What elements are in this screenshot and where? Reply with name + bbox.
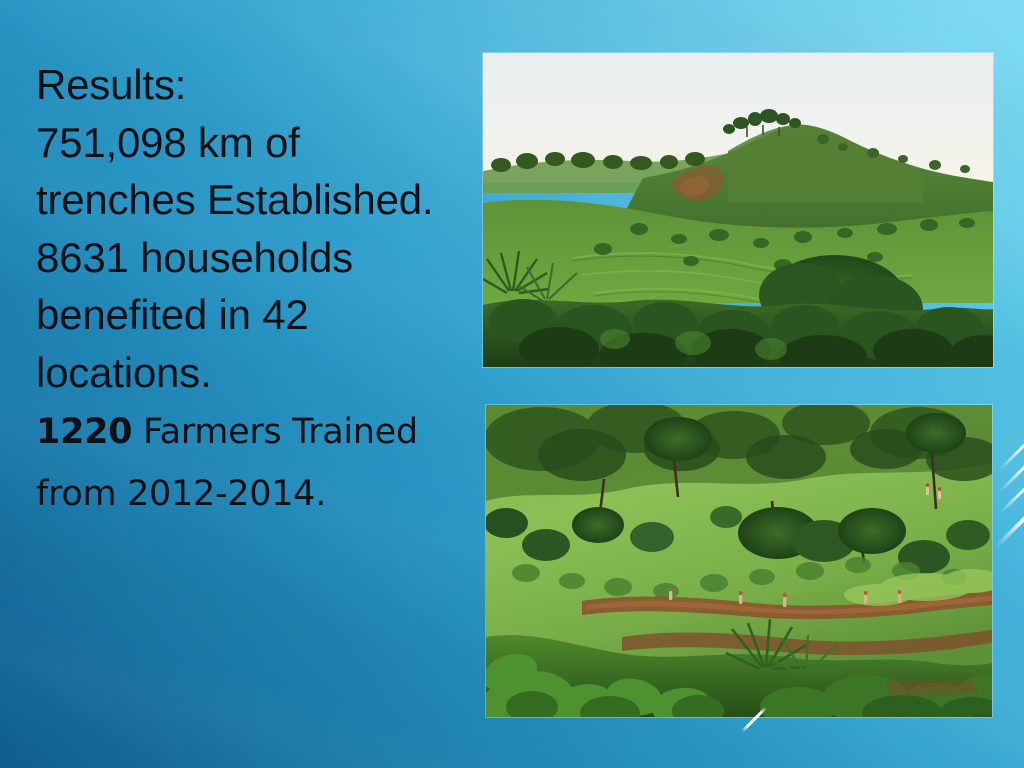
hill-landscape-photo bbox=[483, 53, 993, 367]
presentation-slide: Results: 751,098 km of trenches Establis… bbox=[0, 0, 1024, 768]
decorative-streak-1 bbox=[995, 420, 1024, 549]
date-range-line: from 2012-2014. bbox=[36, 463, 484, 525]
terraced-hillside-photo bbox=[486, 405, 992, 717]
farmers-trained-count: 1220 bbox=[36, 412, 132, 452]
locations-line: locations. bbox=[36, 344, 484, 402]
slide-body-text: Results: 751,098 km of trenches Establis… bbox=[36, 56, 484, 525]
trench-length-line: 751,098 km of bbox=[36, 114, 484, 172]
farmers-trained-label: Farmers Trained bbox=[132, 412, 418, 452]
benefited-line: benefited in 42 bbox=[36, 286, 484, 344]
farmers-trained-line: 1220 Farmers Trained bbox=[36, 401, 484, 463]
households-line: 8631 households bbox=[36, 229, 484, 287]
decorative-streak-4 bbox=[999, 369, 1024, 470]
trenches-established-line: trenches Established. bbox=[36, 171, 484, 229]
decorative-streak-3 bbox=[999, 384, 1024, 492]
decorative-streak-2 bbox=[999, 406, 1024, 514]
results-heading: Results: bbox=[36, 56, 484, 114]
